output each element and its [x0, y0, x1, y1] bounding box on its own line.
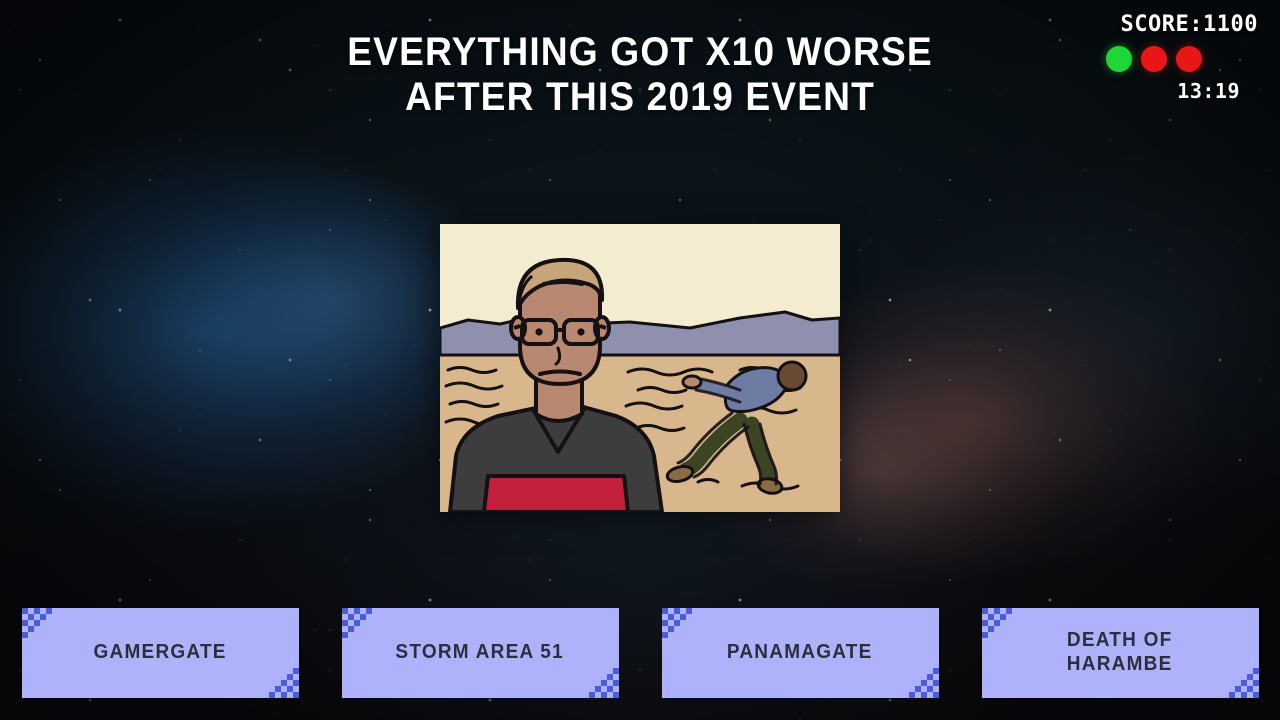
score-display: SCORE:1100	[980, 14, 1258, 36]
question-image	[440, 224, 840, 512]
hud: SCORE:1100 13:19	[980, 0, 1280, 101]
desert-cartoon-illustration	[440, 224, 840, 512]
life-icon-3	[1176, 46, 1202, 72]
game-screen: SCORE:1100 13:19 EVERYTHING GOT X10 WORS…	[0, 0, 1280, 720]
life-icon-2	[1141, 46, 1167, 72]
answer-label: DEATH OF HARAMBE	[1056, 629, 1185, 676]
answer-label: PANAMAGATE	[716, 641, 885, 665]
answer-button-panamagate[interactable]: PANAMAGATE	[662, 608, 939, 698]
pixel-corner-icon	[909, 668, 939, 698]
pixel-corner-icon	[342, 608, 372, 638]
pixel-corner-icon	[1229, 668, 1259, 698]
pixel-corner-icon	[269, 668, 299, 698]
answer-button-storm-area-51[interactable]: STORM AREA 51	[342, 608, 619, 698]
answer-slot-c: PANAMAGATE	[640, 600, 960, 698]
answer-slot-b: STORM AREA 51	[320, 600, 640, 698]
answer-button-death-of-harambe[interactable]: DEATH OF HARAMBE	[982, 608, 1259, 698]
answer-label: GAMERGATE	[82, 641, 238, 665]
answer-slot-a: GAMERGATE	[0, 600, 320, 698]
answer-button-gamergate[interactable]: GAMERGATE	[22, 608, 299, 698]
lives-indicator	[980, 46, 1202, 72]
pixel-corner-icon	[22, 608, 52, 638]
pixel-corner-icon	[982, 608, 1012, 638]
pixel-corner-icon	[662, 608, 692, 638]
answer-slot-d: DEATH OF HARAMBE	[960, 600, 1280, 698]
life-icon-1	[1106, 46, 1132, 72]
pixel-corner-icon	[589, 668, 619, 698]
answer-label: STORM AREA 51	[384, 641, 575, 665]
answer-options: GAMERGATE STORM AREA	[0, 600, 1280, 720]
timer-display: 13:19	[980, 81, 1240, 101]
